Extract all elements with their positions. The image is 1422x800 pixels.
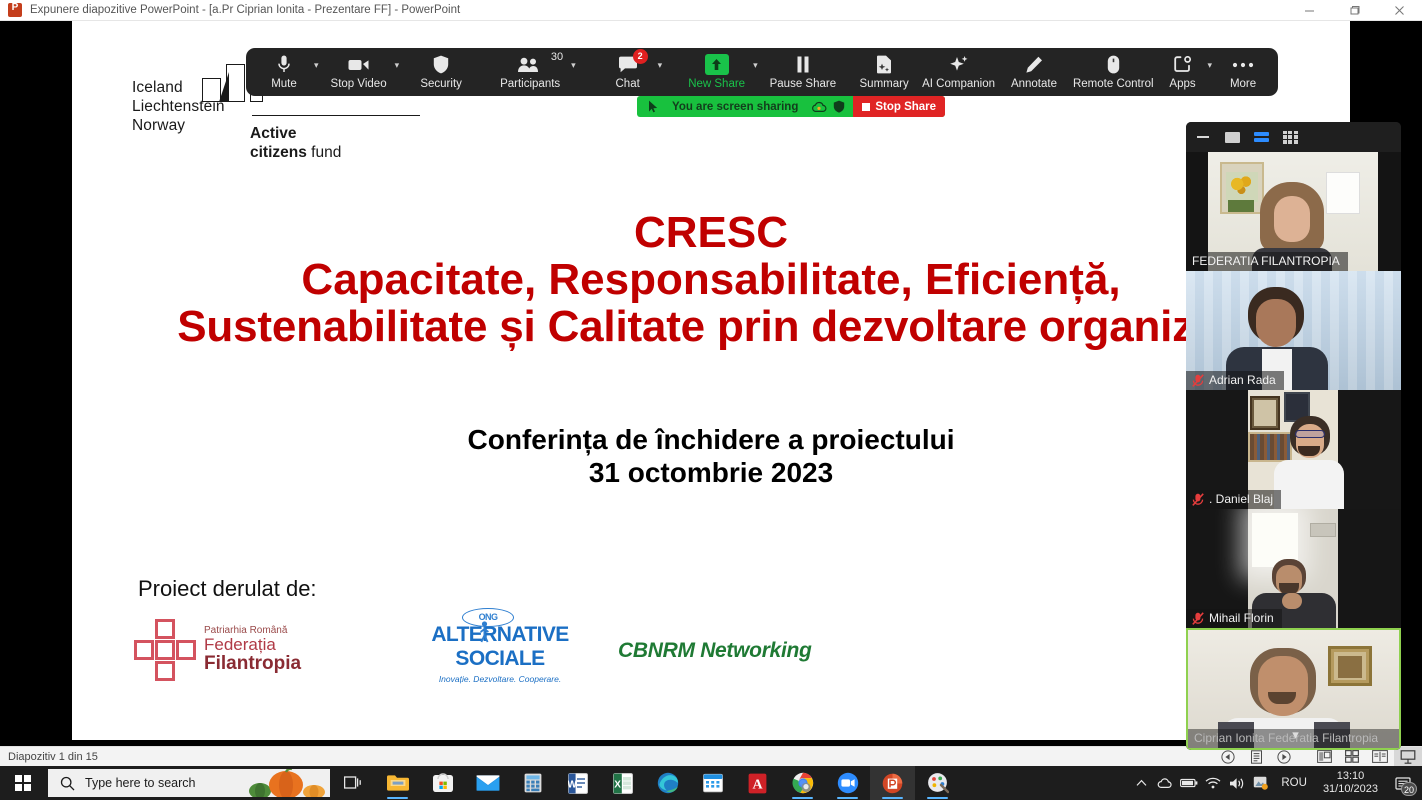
ai-companion-button[interactable]: AI Companion [916, 50, 1001, 94]
partners-label: Proiect derulat de: [138, 576, 317, 602]
photos-tray-icon[interactable] [1249, 766, 1273, 800]
keyboard-language[interactable]: ROU [1273, 777, 1315, 789]
new-share-label: New Share [688, 78, 745, 90]
svg-text:A: A [752, 777, 763, 792]
remote-control-label: Remote Control [1073, 78, 1154, 90]
excel-icon[interactable]: X [600, 766, 645, 800]
clock-date: 31/10/2023 [1323, 783, 1378, 796]
calendar-icon[interactable] [690, 766, 735, 800]
partner-logos: Patriarhia Română Federația Filantropia … [72, 619, 1350, 691]
slide-counter: Diapozitiv 1 din 15 [8, 751, 98, 763]
alternative-sociale-tagline: Inovație. Dezvoltare. Cooperare. [410, 674, 590, 684]
subtitle-line-1: Conferința de închidere a proiectului [72, 423, 1350, 456]
restore-button[interactable] [1332, 0, 1377, 21]
federatia-filantropia-logo: Patriarhia Română Federația Filantropia [134, 619, 301, 681]
mouse-icon [1107, 55, 1120, 75]
search-placeholder: Type here to search [85, 776, 195, 790]
minimize-filmstrip-icon[interactable] [1195, 130, 1211, 144]
apps-options-caret-icon[interactable]: ▾ [1208, 60, 1219, 85]
participant-name-bar: Mihail Florin [1186, 609, 1282, 628]
paint-3d-icon[interactable] [915, 766, 960, 800]
video-camera-icon [348, 55, 370, 75]
slide-canvas[interactable]: Iceland Liechtenstein Norway Active citi… [72, 21, 1350, 740]
chat-label: Chat [616, 78, 640, 90]
onedrive-icon[interactable] [1153, 766, 1177, 800]
new-share-options-caret-icon[interactable]: ▾ [753, 60, 764, 85]
mute-button[interactable]: Mute [256, 50, 312, 94]
participants-options-caret-icon[interactable]: ▾ [571, 60, 582, 85]
muted-microphone-icon [1192, 612, 1204, 625]
slide-subtitle: Conferința de închidere a proiectului 31… [72, 423, 1350, 489]
summary-button[interactable]: Summary [852, 50, 916, 94]
participant-tile[interactable]: . Daniel Blaj [1186, 390, 1401, 509]
security-label: Security [420, 78, 462, 90]
notifications-button[interactable]: 20 [1386, 766, 1420, 800]
stop-share-label: Stop Share [875, 101, 936, 113]
summary-label: Summary [860, 78, 909, 90]
sharing-cursor-icon [648, 100, 659, 113]
windows-logo-icon [15, 775, 31, 791]
title-line-1: CRESC [72, 209, 1350, 256]
sharing-status-text: You are screen sharing [672, 101, 798, 113]
filantropia-line-3: Filantropia [204, 654, 301, 674]
muted-microphone-icon [1192, 374, 1204, 387]
task-view-icon[interactable] [330, 766, 375, 800]
volume-icon[interactable] [1225, 766, 1249, 800]
participant-tile[interactable]: FEDERATIA FILANTROPIA [1186, 152, 1401, 271]
clock-time: 13:10 [1323, 770, 1378, 783]
windows-taskbar: Type here to search W [0, 766, 1422, 800]
chevron-down-icon[interactable]: ▾ [1188, 722, 1401, 748]
new-share-button[interactable]: New Share [682, 50, 751, 94]
microsoft-store-icon[interactable] [420, 766, 465, 800]
filantropia-cross-icon [134, 619, 196, 681]
shield-security-icon[interactable] [833, 100, 845, 113]
minimize-button[interactable] [1287, 0, 1332, 21]
participant-tile[interactable]: Mihail Florin [1186, 509, 1401, 628]
stop-share-button[interactable]: Stop Share [853, 96, 945, 117]
pause-share-button[interactable]: Pause Share [764, 50, 843, 94]
acrobat-reader-icon[interactable]: A [735, 766, 780, 800]
participant-name-bar: Adrian Rada [1186, 371, 1284, 390]
alternative-sociale-name: ALTERNATIVE SOCIALE [431, 623, 568, 670]
participant-tile-active-speaker[interactable]: Ciprian Ionita Federatia Filantropia ▾ [1186, 628, 1401, 750]
apps-icon [1174, 55, 1192, 75]
title-line-2: Capacitate, Responsabilitate, Eficiență, [72, 256, 1350, 303]
title-line-3: Sustenabilitate și Calitate prin dezvolt… [72, 303, 1350, 350]
edge-icon[interactable] [645, 766, 690, 800]
screen: Expunere diapozitive PowerPoint - [a.Pr … [0, 0, 1422, 800]
shield-icon [433, 55, 449, 75]
acf-citizens: citizens [250, 144, 307, 161]
slideshow-stage: Iceland Liechtenstein Norway Active citi… [0, 21, 1422, 746]
apps-button[interactable]: Apps [1160, 50, 1206, 94]
file-explorer-icon[interactable] [375, 766, 420, 800]
powerpoint-icon [8, 3, 22, 17]
participants-icon [517, 55, 543, 75]
wifi-icon[interactable] [1201, 766, 1225, 800]
participant-name: Mihail Florin [1209, 611, 1274, 625]
mail-icon[interactable] [465, 766, 510, 800]
apps-label: Apps [1169, 78, 1195, 90]
cloud-recording-icon[interactable] [811, 101, 827, 113]
more-button[interactable]: More [1218, 50, 1268, 94]
clock[interactable]: 13:10 31/10/2023 [1315, 770, 1386, 796]
ai-sparkle-icon [949, 55, 969, 75]
search-input[interactable]: Type here to search [48, 769, 330, 797]
security-button[interactable]: Security [413, 50, 469, 94]
participants-label: Participants [500, 78, 560, 90]
mute-options-caret-icon[interactable]: ▾ [314, 60, 325, 85]
participant-tile[interactable]: Adrian Rada [1186, 271, 1401, 390]
participant-name-bar: . Daniel Blaj [1186, 490, 1281, 509]
annotate-label: Annotate [1011, 78, 1057, 90]
pause-share-label: Pause Share [770, 78, 837, 90]
powerpoint-title-bar: Expunere diapozitive PowerPoint - [a.Pr … [0, 0, 1422, 21]
participants-count: 30 [551, 51, 563, 63]
chat-options-caret-icon[interactable]: ▾ [658, 60, 669, 85]
speaker-view-icon[interactable] [1224, 130, 1240, 144]
slide-title: CRESC Capacitate, Responsabilitate, Efic… [72, 209, 1350, 350]
cbnrm-networking-logo: CBNRM Networking [618, 639, 812, 663]
powerpoint-icon[interactable] [870, 766, 915, 800]
subtitle-line-2: 31 octombrie 2023 [72, 456, 1350, 489]
filantropia-line-2: Federația [204, 636, 301, 654]
acf-country-3: Norway [132, 116, 225, 135]
chevron-up-icon[interactable] [1129, 766, 1153, 800]
zoom-participant-filmstrip: FEDERATIA FILANTROPIA [1186, 122, 1401, 750]
close-button[interactable] [1377, 0, 1422, 21]
person-glyph-icon [480, 621, 489, 643]
magnifier-icon [60, 776, 75, 791]
zoom-meeting-toolbar: Mute ▾ Stop Video ▾ Security [246, 48, 1278, 96]
participant-name: FEDERATIA FILANTROPIA [1192, 254, 1340, 268]
video-options-caret-icon[interactable]: ▾ [395, 60, 406, 85]
alternative-sociale-logo: ALTERNATIVE SOCIALE ONG Inovație. Dezvol… [410, 623, 590, 684]
participant-name: Adrian Rada [1209, 373, 1276, 387]
pause-icon [796, 55, 810, 75]
strip-view-icon[interactable] [1253, 130, 1269, 144]
chat-button[interactable]: 2 Chat [600, 50, 656, 94]
window-title: Expunere diapozitive PowerPoint - [a.Pr … [30, 4, 460, 16]
stop-square-icon [862, 103, 870, 111]
annotate-button[interactable]: Annotate [1001, 50, 1067, 94]
stop-video-button[interactable]: Stop Video [325, 50, 393, 94]
participants-button[interactable]: 30 Participants [491, 50, 569, 94]
participant-name-bar: FEDERATIA FILANTROPIA [1186, 252, 1348, 271]
acf-fund-name: Active citizens fund [250, 124, 341, 162]
muted-microphone-icon [1192, 493, 1204, 506]
microphone-icon [278, 55, 290, 75]
zoom-icon[interactable] [825, 766, 870, 800]
mute-label: Mute [271, 78, 297, 90]
ai-companion-label: AI Companion [922, 78, 995, 90]
svg-text:X: X [614, 779, 621, 790]
acf-active: Active [250, 125, 297, 142]
summary-doc-icon [876, 55, 892, 75]
word-icon[interactable]: W [555, 766, 600, 800]
acf-fund: fund [307, 144, 341, 161]
pencil-icon [1025, 55, 1043, 75]
chat-unread-badge: 2 [633, 49, 648, 64]
screen-sharing-bar: You are screen sharing Stop Share [637, 96, 945, 117]
pumpkin-decoration-icon [244, 769, 328, 797]
notification-count-badge: 20 [1401, 782, 1417, 796]
svg-text:W: W [568, 779, 577, 790]
window-controls [1287, 0, 1422, 21]
more-label: More [1230, 78, 1256, 90]
chrome-icon[interactable] [780, 766, 825, 800]
calculator-icon[interactable] [510, 766, 555, 800]
remote-control-button[interactable]: Remote Control [1067, 50, 1160, 94]
filmstrip-view-controls [1186, 122, 1401, 152]
start-button[interactable] [0, 766, 46, 800]
battery-icon[interactable] [1177, 766, 1201, 800]
system-tray: ROU 13:10 31/10/2023 20 [1129, 766, 1422, 800]
gallery-view-icon[interactable] [1282, 130, 1298, 144]
ellipsis-icon [1232, 55, 1254, 75]
stop-video-label: Stop Video [331, 78, 387, 90]
participant-name: . Daniel Blaj [1209, 492, 1273, 506]
share-up-arrow-icon [705, 55, 729, 75]
